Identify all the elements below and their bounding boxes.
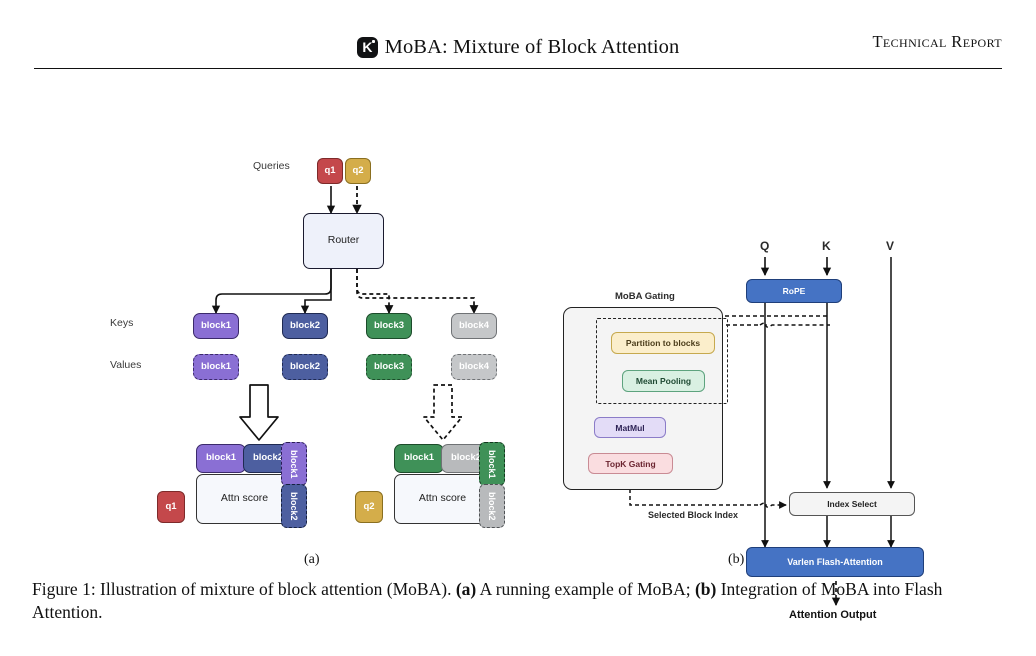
header-rule bbox=[34, 68, 1002, 69]
attn-right-selected-value-2[interactable]: block2 bbox=[479, 484, 505, 528]
label-queries: Queries bbox=[253, 160, 290, 172]
attn-left-score-box[interactable]: Attn score bbox=[196, 474, 293, 524]
attn-right-query-q2[interactable]: q2 bbox=[355, 491, 383, 523]
caption-bold-a: (a) bbox=[456, 579, 476, 599]
value-block-1[interactable]: block1 bbox=[193, 354, 239, 380]
attn-right-selected-value-2-label: block2 bbox=[487, 492, 497, 521]
attn-left-selected-value-2-label: block2 bbox=[289, 492, 299, 521]
caption-prefix: Figure 1: Illustration of mixture of blo… bbox=[32, 579, 456, 599]
logo-glyph: K bbox=[362, 40, 372, 54]
header-title-group: K MoBA: Mixture of Block Attention bbox=[34, 30, 1002, 64]
caption-mid: A running example of MoBA; bbox=[476, 579, 695, 599]
attn-right-selected-value-1-label: block1 bbox=[487, 450, 497, 479]
figure-caption: Figure 1: Illustration of mixture of blo… bbox=[32, 578, 1004, 625]
attn-left-selected-value-1[interactable]: block1 bbox=[281, 442, 307, 486]
figure-canvas: Queries Keys Values q1 q2 Router block1 … bbox=[0, 92, 1036, 562]
input-label-q: Q bbox=[760, 239, 769, 253]
mean-pooling-node[interactable]: Mean Pooling bbox=[622, 370, 705, 392]
label-selected-block-index: Selected Block Index bbox=[648, 510, 738, 520]
query-block-q2[interactable]: q2 bbox=[345, 158, 371, 184]
logo-dot-icon bbox=[372, 40, 375, 43]
attn-left-selected-value-1-label: block1 bbox=[289, 450, 299, 479]
moba-logo-icon: K bbox=[357, 37, 378, 58]
key-block-3[interactable]: block3 bbox=[366, 313, 412, 339]
value-block-2[interactable]: block2 bbox=[282, 354, 328, 380]
matmul-node[interactable]: MatMul bbox=[594, 417, 666, 438]
index-select-node[interactable]: Index Select bbox=[789, 492, 915, 516]
rope-node[interactable]: RoPE bbox=[746, 279, 842, 303]
page-header: K MoBA: Mixture of Block Attention Techn… bbox=[34, 30, 1002, 70]
page-title: MoBA: Mixture of Block Attention bbox=[385, 36, 680, 59]
subcaption-a: (a) bbox=[304, 552, 320, 568]
attn-right-selected-key-1[interactable]: block1 bbox=[394, 444, 444, 473]
topk-gating-node[interactable]: TopK Gating bbox=[588, 453, 673, 474]
subcaption-b: (b) bbox=[728, 552, 744, 568]
attn-left-selected-value-2[interactable]: block2 bbox=[281, 484, 307, 528]
input-label-k: K bbox=[822, 239, 831, 253]
attn-left-query-q1[interactable]: q1 bbox=[157, 491, 185, 523]
varlen-flash-attention-node[interactable]: Varlen Flash-Attention bbox=[746, 547, 924, 577]
attn-right-score-box[interactable]: Attn score bbox=[394, 474, 491, 524]
partition-to-blocks-node[interactable]: Partition to blocks bbox=[611, 332, 715, 354]
label-values: Values bbox=[110, 359, 141, 371]
attn-right-selected-value-1[interactable]: block1 bbox=[479, 442, 505, 486]
label-moba-gating: MoBA Gating bbox=[615, 291, 675, 302]
query-block-q1[interactable]: q1 bbox=[317, 158, 343, 184]
header-right-label: Technical Report bbox=[872, 32, 1002, 52]
value-block-4[interactable]: block4 bbox=[451, 354, 497, 380]
label-keys: Keys bbox=[110, 317, 133, 329]
caption-bold-b: (b) bbox=[695, 579, 716, 599]
attn-left-selected-key-1[interactable]: block1 bbox=[196, 444, 246, 473]
key-block-2[interactable]: block2 bbox=[282, 313, 328, 339]
input-label-v: V bbox=[886, 239, 894, 253]
key-block-1[interactable]: block1 bbox=[193, 313, 239, 339]
router-node[interactable]: Router bbox=[303, 213, 384, 269]
key-block-4[interactable]: block4 bbox=[451, 313, 497, 339]
value-block-3[interactable]: block3 bbox=[366, 354, 412, 380]
